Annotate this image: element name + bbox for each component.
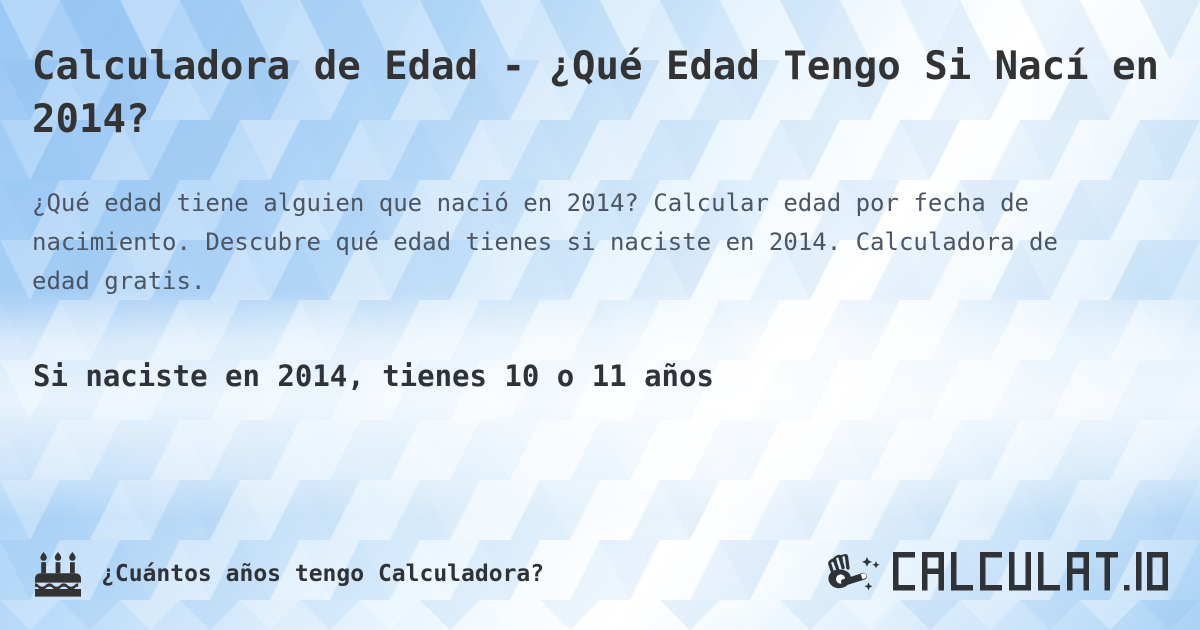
site-logo-wordmark [893,552,1168,596]
content-area: Calculadora de Edad - ¿Qué Edad Tengo Si… [0,0,1200,630]
footer-brand-label: ¿Cuántos años tengo Calculadora? [101,559,544,589]
page-title: Calculadora de Edad - ¿Qué Edad Tengo Si… [32,40,1172,146]
site-logo[interactable] [828,552,1168,596]
age-result-text: Si naciste en 2014, tienes 10 o 11 años [33,356,714,396]
page-description: ¿Qué edad tiene alguien que nació en 201… [32,184,1107,301]
birthday-cake-icon [32,550,84,598]
footer: ¿Cuántos años tengo Calculadora? [32,546,1168,602]
og-image-canvas: Calculadora de Edad - ¿Qué Edad Tengo Si… [0,0,1200,630]
magic-wand-hand-icon [828,552,884,596]
footer-brand[interactable]: ¿Cuántos años tengo Calculadora? [32,550,544,598]
